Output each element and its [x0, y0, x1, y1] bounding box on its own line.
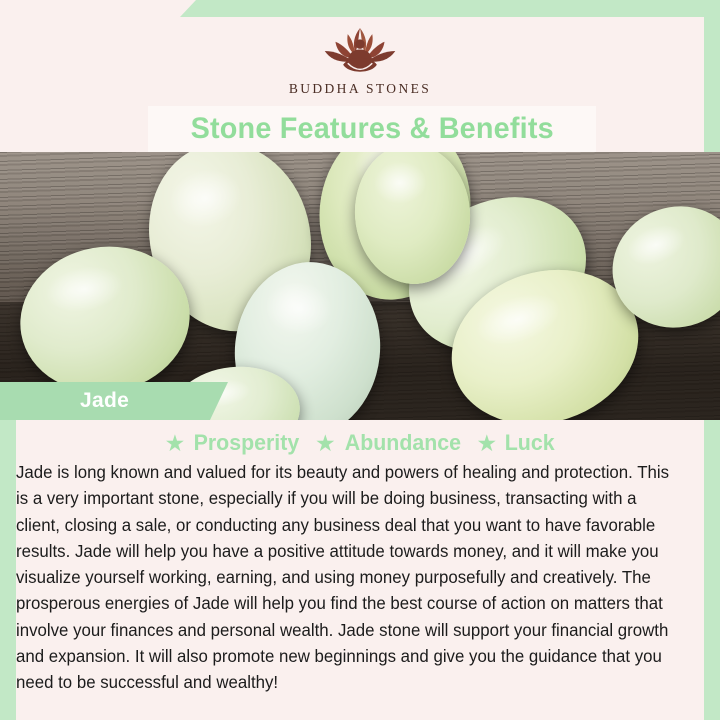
description-paragraph: Jade is long known and valued for its be… [16, 460, 684, 697]
description-block: Jade is long known and valued for its be… [16, 460, 708, 697]
benefit-label: Luck [505, 430, 555, 456]
stone-label: Jade [80, 382, 129, 420]
benefit-label: Prosperity [194, 430, 300, 456]
hero-stone-photo: Jade [0, 152, 720, 420]
benefit-label: Abundance [344, 430, 460, 456]
benefits-row: ★ Prosperity ★ Abundance ★ Luck [0, 430, 720, 456]
benefit-item: ★ Abundance [315, 430, 462, 456]
top-green-accent-band [0, 0, 720, 17]
brand-logo: BUDDHA STONES [0, 17, 720, 105]
stone-info-card: BUDDHA STONES Stone Features & Benefits … [0, 0, 720, 720]
benefit-item: ★ Luck [476, 430, 555, 456]
benefit-item: ★ Prosperity [165, 430, 301, 456]
left-green-accent-strip-lower [0, 420, 16, 720]
star-icon: ★ [476, 432, 497, 455]
brand-name: BUDDHA STONES [289, 81, 431, 97]
lotus-meditation-figure-icon [314, 23, 406, 79]
star-icon: ★ [165, 432, 186, 455]
star-icon: ★ [315, 432, 336, 455]
title-banner: Stone Features & Benefits [148, 106, 596, 152]
page-title: Stone Features & Benefits [190, 112, 553, 146]
